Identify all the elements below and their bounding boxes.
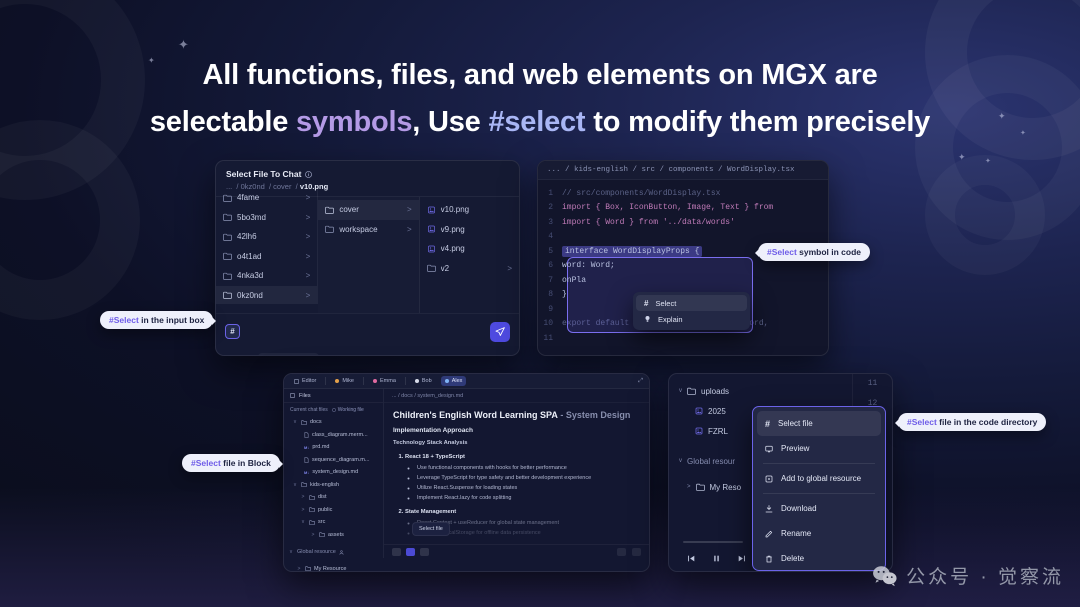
callout-text: file in Block bbox=[221, 458, 271, 468]
add-resource-icon bbox=[765, 475, 773, 483]
tab-label: Alex bbox=[452, 378, 463, 384]
expand-icon[interactable]: ⤢ bbox=[638, 378, 643, 385]
line-number: 2 bbox=[538, 203, 562, 212]
tree-row-my-resource[interactable]: >My Resource bbox=[284, 563, 383, 573]
folder-icon bbox=[301, 420, 307, 425]
file-context-menu: # Select file Preview Add to global reso… bbox=[752, 406, 886, 571]
chevron-down-icon: ▾ bbox=[311, 356, 314, 357]
hash-select-button[interactable] bbox=[406, 548, 415, 556]
tree-label: system_design.md bbox=[312, 469, 358, 475]
hash-token-chip[interactable]: # bbox=[225, 324, 240, 339]
callout-input-box: #Select in the input box bbox=[100, 311, 213, 329]
file-icon bbox=[304, 432, 309, 438]
chat-input-row[interactable]: # bbox=[216, 313, 519, 349]
file-column-1: 4fame > 5bo3md > 42lh6 > o4t1ad > 4nka3d bbox=[216, 188, 318, 304]
twisty-icon[interactable]: > bbox=[687, 484, 691, 490]
document-title-sub: - System Design bbox=[558, 410, 631, 420]
line-number: 5 bbox=[538, 247, 562, 256]
headline-keyword-select: #select bbox=[488, 106, 585, 138]
select-file-title-row: Select File To Chat bbox=[226, 169, 509, 179]
menu-item-label: Delete bbox=[781, 554, 804, 563]
list-item: Implement localStorage for offline data … bbox=[417, 530, 640, 536]
sparkle-icon: ✦ bbox=[985, 158, 991, 165]
file-row[interactable]: o4t1ad > bbox=[216, 247, 317, 267]
tree-label: Global resour bbox=[687, 457, 735, 466]
chevron-right-icon: > bbox=[306, 291, 311, 300]
context-menu-item-explain[interactable]: Explain bbox=[636, 311, 747, 327]
hash-icon: # bbox=[644, 299, 648, 308]
callout-text: symbol in code bbox=[797, 247, 861, 257]
select-file-title: Select File To Chat bbox=[226, 169, 301, 179]
file-name: v10.png bbox=[441, 205, 512, 214]
headline-line-2-b: , Use bbox=[412, 106, 488, 138]
wechat-icon bbox=[872, 565, 898, 587]
tree-row-dist[interactable]: >dist bbox=[284, 491, 383, 504]
image-file-icon bbox=[427, 225, 436, 233]
folder-icon bbox=[301, 482, 307, 487]
folder-icon bbox=[223, 272, 232, 280]
add-button[interactable]: Add bbox=[225, 355, 249, 357]
document-bullets-2: React Context + useReducer for global st… bbox=[417, 520, 640, 536]
md-file-icon: M↓ bbox=[304, 470, 309, 475]
context-menu-label: Select bbox=[655, 299, 676, 308]
current-chat-files-row: Current chat files Working file bbox=[284, 403, 383, 416]
tab-mike[interactable]: Mike bbox=[331, 376, 358, 386]
editor-file-sidebar: Files Current chat files Working file vd… bbox=[284, 389, 384, 558]
tree-label: src bbox=[318, 519, 325, 525]
file-name: v9.png bbox=[441, 225, 512, 234]
tree-label: My Resource bbox=[314, 566, 346, 572]
avatar-icon bbox=[445, 379, 449, 383]
tree-row-public[interactable]: >public bbox=[284, 504, 383, 517]
decorative-swirl bbox=[925, 155, 1045, 275]
tree-row-assets[interactable]: >assets bbox=[284, 529, 383, 542]
headline-line-2-c: to modify them precisely bbox=[585, 106, 930, 138]
twisty-icon[interactable]: v bbox=[300, 519, 306, 525]
download-icon bbox=[765, 505, 773, 513]
tree-row-file-selected[interactable]: M↓system_design.md bbox=[284, 466, 383, 479]
folder-icon bbox=[309, 520, 315, 525]
chevron-right-icon: > bbox=[507, 264, 512, 273]
code-text: } bbox=[562, 290, 567, 299]
tree-label: public bbox=[318, 507, 332, 513]
folder-icon bbox=[223, 233, 232, 241]
bulb-icon bbox=[644, 315, 651, 323]
line-number: 11 bbox=[538, 334, 562, 343]
code-area[interactable]: 1// src/components/WordDisplay.tsx 2impo… bbox=[538, 180, 828, 346]
code-text: import { Box, IconButton, Image, Text } … bbox=[562, 203, 773, 212]
tree-row-kids-english[interactable]: vkids-english bbox=[284, 479, 383, 492]
tab-editor[interactable]: Editor bbox=[290, 376, 320, 386]
chevron-right-icon: > bbox=[407, 205, 412, 214]
file-name: v2 bbox=[441, 264, 503, 273]
folder-icon bbox=[325, 206, 334, 214]
send-icon bbox=[495, 327, 505, 337]
editor-footer bbox=[384, 544, 649, 558]
file-column-3: v10.png v9.png v4.png v2 > bbox=[420, 197, 519, 313]
headline-line-1: All functions, files, and web elements o… bbox=[0, 52, 1080, 99]
enter-hint: Shift + Enter for new line bbox=[428, 355, 510, 357]
chevron-right-icon: > bbox=[306, 193, 311, 202]
file-browser-columns: 4fame > 5bo3md > 42lh6 > o4t1ad > 4nka3d bbox=[216, 196, 519, 313]
watermark: 公众号 · 觉察流 bbox=[872, 562, 1064, 589]
clock-icon bbox=[332, 408, 336, 412]
menu-item-label: Add to global resource bbox=[781, 474, 861, 483]
files-header: Files bbox=[284, 389, 383, 403]
folder-icon bbox=[309, 495, 315, 500]
callout-hash: #Select bbox=[191, 458, 221, 468]
avatar-icon bbox=[335, 379, 339, 383]
file-name: 0kz0nd bbox=[237, 291, 301, 300]
file-row[interactable]: 5bo3md > bbox=[216, 208, 317, 228]
menu-item-rename[interactable]: Rename bbox=[757, 521, 881, 546]
folder-icon bbox=[223, 291, 232, 299]
file-name: o4t1ad bbox=[237, 252, 301, 261]
tab-emma[interactable]: Emma bbox=[369, 376, 400, 386]
list-item: Leverage TypeScript for type safety and … bbox=[417, 475, 640, 481]
document-h2: Implementation Approach bbox=[393, 427, 640, 434]
tree-label: kids-english bbox=[310, 482, 339, 488]
working-file-label: Working file bbox=[338, 407, 364, 413]
document-title: Children's English Word Learning SPA - S… bbox=[393, 410, 640, 420]
file-name: 4nka3d bbox=[237, 271, 301, 280]
page-headline: All functions, files, and web elements o… bbox=[0, 52, 1080, 146]
menu-item-label: Download bbox=[781, 504, 817, 513]
list-item: Use functional components with hooks for… bbox=[417, 465, 640, 471]
tree-label: dist bbox=[318, 494, 327, 500]
tree-label: My Reso bbox=[710, 483, 742, 492]
file-tree: vdocs class_diagram.merm... M↓prd.md seq… bbox=[284, 416, 383, 572]
plus-circle-icon bbox=[225, 355, 233, 356]
twisty-icon[interactable]: v bbox=[292, 419, 298, 425]
line-number: 3 bbox=[538, 218, 562, 227]
comment-button[interactable] bbox=[420, 548, 429, 556]
editor-body: Files Current chat files Working file vd… bbox=[284, 389, 649, 558]
working-file-badge: Working file bbox=[332, 407, 364, 413]
file-name: 4fame bbox=[237, 193, 301, 202]
file-name: cover bbox=[339, 205, 402, 214]
tab-separator bbox=[325, 377, 326, 385]
list-item: React Context + useReducer for global st… bbox=[417, 520, 640, 526]
list-item: Implement React.lazy for code splitting bbox=[417, 495, 640, 501]
code-text: interface WordDisplayProps { bbox=[562, 246, 702, 257]
headline-line-2-a: selectable bbox=[150, 106, 296, 138]
image-file-icon bbox=[695, 427, 703, 435]
list-item: State Management bbox=[405, 509, 640, 515]
code-breadcrumb[interactable]: ... / kids-english / src / components / … bbox=[538, 161, 828, 180]
file-row[interactable]: v9.png bbox=[420, 220, 519, 240]
watermark-text: 公众号 · 觉察流 bbox=[906, 562, 1064, 589]
twisty-icon[interactable]: > bbox=[310, 532, 316, 538]
attach-button[interactable] bbox=[617, 548, 626, 556]
tab-label: Bob bbox=[422, 378, 432, 384]
trash-icon bbox=[765, 555, 773, 563]
tree-row-global-resource[interactable]: vGlobal resource bbox=[284, 546, 383, 559]
menu-item-preview[interactable]: Preview bbox=[757, 436, 881, 461]
file-row[interactable]: 4nka3d > bbox=[216, 266, 317, 286]
document-h3: Technology Stack Analysis bbox=[393, 440, 640, 446]
code-context-menu: # Select Explain bbox=[633, 292, 750, 330]
pause-icon[interactable] bbox=[712, 554, 721, 563]
line-number: 1 bbox=[538, 189, 562, 198]
file-row-selected[interactable]: 0kz0nd > bbox=[216, 286, 317, 305]
twisty-icon[interactable]: v bbox=[288, 549, 294, 555]
code-text: import { Word } from '../data/words' bbox=[562, 218, 735, 227]
progress-bar[interactable] bbox=[683, 541, 743, 543]
avatar-icon bbox=[373, 379, 377, 383]
chevron-right-icon: > bbox=[306, 252, 311, 261]
file-row[interactable]: 42lh6 > bbox=[216, 227, 317, 247]
image-file-icon bbox=[427, 245, 436, 253]
current-chat-files-label: Current chat files bbox=[290, 407, 328, 413]
file-icon bbox=[304, 457, 309, 463]
list-item: React 18 + TypeScript bbox=[405, 454, 640, 460]
list-item: Utilize React.Suspense for loading state… bbox=[417, 485, 640, 491]
tree-label: assets bbox=[328, 532, 344, 538]
code-line: 3import { Word } from '../data/words' bbox=[538, 215, 828, 230]
line-number: 8 bbox=[538, 290, 562, 299]
callout-text: file in the code directory bbox=[937, 417, 1038, 427]
theme-toggle-button[interactable] bbox=[392, 548, 401, 556]
select-file-chip[interactable]: Select file bbox=[412, 522, 450, 536]
menu-item-label: Preview bbox=[781, 444, 809, 453]
chat-footer-row: Add claude-3... ▾ Shift + Enter for new … bbox=[216, 349, 519, 356]
info-icon[interactable] bbox=[305, 171, 312, 178]
folder-icon bbox=[223, 213, 232, 221]
headline-line-1-text: All functions, files, and web elements o… bbox=[202, 59, 877, 91]
menu-item-delete[interactable]: Delete bbox=[757, 546, 881, 571]
context-menu-label: Explain bbox=[658, 315, 683, 324]
skip-forward-icon[interactable] bbox=[737, 554, 746, 563]
file-row[interactable]: v10.png bbox=[420, 200, 519, 220]
callout-hash: #Select bbox=[907, 417, 937, 427]
folder-icon bbox=[427, 264, 436, 272]
code-text: onPla bbox=[562, 276, 586, 285]
folder-icon bbox=[223, 252, 232, 260]
chevron-right-icon: > bbox=[306, 232, 311, 241]
menu-item-add-to-global-resource[interactable]: Add to global resource bbox=[757, 466, 881, 491]
menu-divider bbox=[763, 463, 875, 464]
tab-separator bbox=[363, 377, 364, 385]
file-name: v4.png bbox=[441, 244, 512, 253]
folder-icon bbox=[696, 483, 705, 491]
tree-label: FZRL bbox=[708, 427, 728, 436]
model-icon bbox=[263, 356, 270, 357]
person-icon bbox=[339, 550, 344, 555]
image-file-icon bbox=[427, 206, 436, 214]
callout-symbol-in-code: #Select symbol in code bbox=[758, 243, 870, 261]
rename-icon bbox=[765, 530, 773, 538]
document-title-main: Children's English Word Learning SPA bbox=[393, 410, 558, 420]
md-file-icon: M↓ bbox=[304, 445, 309, 450]
menu-item-download[interactable]: Download bbox=[757, 496, 881, 521]
menu-item-select-file[interactable]: # Select file bbox=[757, 411, 881, 436]
line-number: 4 bbox=[538, 232, 562, 241]
preview-icon bbox=[765, 445, 773, 453]
tree-row-file[interactable]: M↓prd.md bbox=[284, 441, 383, 454]
folder-icon bbox=[325, 225, 334, 233]
twisty-icon[interactable]: > bbox=[300, 494, 306, 500]
callout-hash: #Select bbox=[767, 247, 797, 257]
menu-item-label: Rename bbox=[781, 529, 811, 538]
twisty-icon[interactable]: v bbox=[679, 458, 682, 464]
model-label: claude-3... bbox=[273, 355, 308, 357]
tree-row-file[interactable]: class_diagram.merm... bbox=[284, 429, 383, 442]
folder-icon bbox=[223, 194, 232, 202]
code-line: 4 bbox=[538, 230, 828, 245]
folder-icon bbox=[309, 507, 315, 512]
file-name: 5bo3md bbox=[237, 213, 301, 222]
tree-label: 2025 bbox=[708, 407, 726, 416]
model-selector[interactable]: claude-3... ▾ bbox=[258, 353, 319, 357]
file-name: 42lh6 bbox=[237, 232, 301, 241]
avatar-icon bbox=[415, 379, 419, 383]
image-file-icon bbox=[695, 407, 703, 415]
chevron-right-icon: > bbox=[407, 225, 412, 234]
file-row[interactable]: v4.png bbox=[420, 239, 519, 259]
files-icon bbox=[290, 393, 295, 398]
file-row[interactable]: v2 > bbox=[420, 259, 519, 279]
editor-tab-bar: Editor Mike Emma Bob Alex ⤢ bbox=[284, 374, 649, 389]
callout-file-in-code-directory: #Select file in the code directory bbox=[898, 413, 1046, 431]
code-text: word: Word; bbox=[562, 261, 615, 270]
folder-icon bbox=[305, 566, 311, 571]
document-breadcrumb[interactable]: ... / docs / system_design.md bbox=[384, 389, 649, 403]
tree-label: Global resource bbox=[297, 549, 336, 555]
tab-separator bbox=[405, 377, 406, 385]
select-file-to-chat-panel: Select File To Chat ... / 0kz0nd / cover… bbox=[215, 160, 520, 356]
tree-label: class_diagram.merm... bbox=[312, 432, 368, 438]
callout-file-in-block: #Select file in Block bbox=[182, 454, 280, 472]
tab-bob[interactable]: Bob bbox=[411, 376, 436, 386]
sparkle-icon: ✦ bbox=[958, 153, 966, 162]
line-number: 10 bbox=[538, 319, 562, 328]
folder-icon bbox=[687, 387, 696, 395]
line-number: 11 bbox=[853, 374, 892, 394]
tab-label: Emma bbox=[380, 378, 396, 384]
callout-text: in the input box bbox=[139, 315, 205, 325]
line-number: 7 bbox=[538, 276, 562, 285]
twisty-icon[interactable]: > bbox=[300, 507, 306, 513]
twisty-icon[interactable]: v bbox=[292, 482, 298, 488]
tree-label: uploads bbox=[701, 387, 729, 396]
twisty-icon[interactable]: v bbox=[679, 388, 682, 394]
chevron-right-icon: > bbox=[306, 271, 311, 280]
tree-label: prd.md bbox=[312, 444, 329, 450]
skip-back-icon[interactable] bbox=[687, 554, 696, 563]
file-row-selected[interactable]: cover > bbox=[318, 200, 418, 220]
headline-line-2: selectable symbols, Use #select to modif… bbox=[0, 99, 1080, 146]
menu-item-label: Select file bbox=[778, 419, 813, 428]
tab-label: Editor bbox=[302, 378, 316, 384]
line-number: 9 bbox=[538, 305, 562, 314]
hash-icon: # bbox=[765, 419, 770, 429]
twisty-icon[interactable]: > bbox=[296, 566, 302, 572]
tree-row-file[interactable]: sequence_diagram.m... bbox=[284, 454, 383, 467]
code-line: 11 bbox=[538, 331, 828, 346]
context-menu-item-select[interactable]: # Select bbox=[636, 295, 747, 311]
editor-icon bbox=[294, 379, 299, 384]
add-button-label: Add bbox=[236, 355, 249, 357]
callout-hash: #Select bbox=[109, 315, 139, 325]
code-text: // src/components/WordDisplay.tsx bbox=[562, 189, 720, 198]
chevron-right-icon: > bbox=[306, 213, 311, 222]
line-number: 6 bbox=[538, 261, 562, 270]
uploads-panel: 11 12 v uploads 2025 FZRL v Global resou… bbox=[668, 373, 893, 572]
headline-keyword-symbols: symbols bbox=[296, 106, 412, 138]
block-editor-panel: Editor Mike Emma Bob Alex ⤢ Files bbox=[283, 373, 650, 572]
files-header-label: Files bbox=[299, 393, 311, 399]
send-button[interactable] bbox=[490, 322, 510, 342]
tree-row-src[interactable]: vsrc bbox=[284, 516, 383, 529]
expand-button[interactable] bbox=[632, 548, 641, 556]
folder-icon bbox=[319, 532, 325, 537]
file-row[interactable]: workspace > bbox=[318, 220, 418, 240]
code-line: 1// src/components/WordDisplay.tsx bbox=[538, 186, 828, 201]
tree-label: docs bbox=[310, 419, 322, 425]
tree-row-docs[interactable]: vdocs bbox=[284, 416, 383, 429]
file-name: workspace bbox=[339, 225, 402, 234]
tab-alex[interactable]: Alex bbox=[441, 376, 467, 386]
tab-label: Mike bbox=[342, 378, 354, 384]
document-pane: ... / docs / system_design.md Children's… bbox=[384, 389, 649, 558]
menu-divider bbox=[763, 493, 875, 494]
code-line: 2import { Box, IconButton, Image, Text }… bbox=[538, 201, 828, 216]
document-bullets: Use functional components with hooks for… bbox=[417, 465, 640, 501]
tree-label: sequence_diagram.m... bbox=[312, 457, 369, 463]
sparkle-icon: ✦ bbox=[178, 38, 189, 51]
file-column-2: cover > workspace > bbox=[318, 197, 419, 313]
file-row[interactable]: 4fame > bbox=[216, 188, 317, 208]
